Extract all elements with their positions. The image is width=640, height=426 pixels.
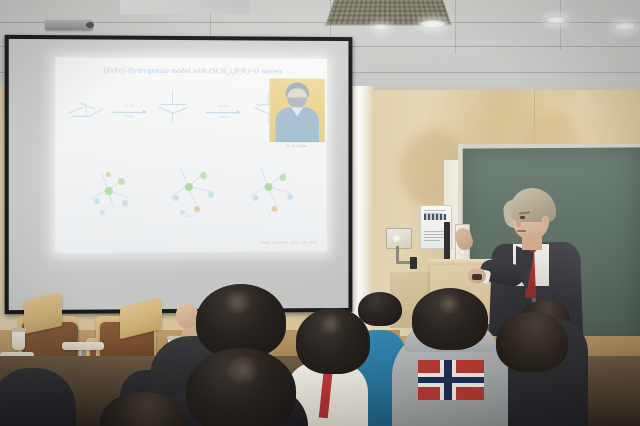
reaction-label-4: reflux bbox=[208, 115, 238, 119]
presenter-eye bbox=[520, 216, 525, 219]
reaction-label-2: + PR3 bbox=[114, 115, 144, 119]
crystal-structure-3: 3 bbox=[242, 162, 307, 222]
coffee-cup-lid bbox=[11, 328, 26, 332]
reaction-scheme-structure-2 bbox=[152, 90, 196, 126]
reaction-arrow-2 bbox=[206, 112, 240, 113]
slide-title: [FeFe]-Hydrogenase model with (SCH2)2P(R… bbox=[65, 66, 320, 78]
structure-label-3: 3 bbox=[258, 214, 282, 218]
ceiling-downlight bbox=[545, 16, 567, 24]
lecture-hall-photo: [FeFe]-Hydrogenase model with (SCH2)2P(R… bbox=[0, 0, 640, 426]
presenter-nose bbox=[516, 219, 521, 227]
poster-header-band bbox=[424, 214, 446, 220]
slide-title-text: [FeFe]-Hydrogenase model with (SCH bbox=[104, 67, 226, 76]
crystal-structure-2: 2a-c bbox=[160, 162, 226, 222]
presentation-remote[interactable] bbox=[472, 274, 482, 280]
projection-screen-frame: [FeFe]-Hydrogenase model with (SCH2)2P(R… bbox=[5, 35, 353, 314]
projector-lens bbox=[86, 22, 94, 28]
slide-portrait-photo bbox=[270, 78, 325, 142]
presenter-mouth bbox=[517, 230, 526, 232]
attendee-right-head bbox=[496, 312, 568, 372]
projection-screen-surface: [FeFe]-Hydrogenase model with (SCH2)2P(R… bbox=[9, 39, 349, 310]
coffee-cup[interactable] bbox=[12, 330, 25, 350]
projected-slide: [FeFe]-Hydrogenase model with (SCH2)2P(R… bbox=[55, 57, 326, 252]
ceiling-downlight bbox=[420, 20, 446, 29]
ceiling-downlight bbox=[613, 22, 637, 31]
presenter-ear bbox=[542, 216, 549, 226]
attendee-back-head bbox=[358, 292, 402, 326]
reaction-scheme-structure-1 bbox=[65, 98, 107, 124]
ceiling-downlight bbox=[372, 24, 390, 31]
hair-whorl bbox=[224, 356, 262, 384]
attendee-raised-hand bbox=[176, 304, 198, 328]
lamp-head bbox=[410, 257, 417, 269]
reaction-label-1: - 2 CO bbox=[114, 104, 144, 108]
ceiling-panel-reflection bbox=[120, 0, 250, 14]
slide-citation: Chem. Commun. 2013, 49, 4022 bbox=[260, 241, 317, 245]
slide-title-end: P(R)=O moiety bbox=[235, 67, 283, 75]
crystal-structure-1: 1 bbox=[78, 164, 140, 222]
slide-portrait-caption: Dr. Ulf H. Apfel bbox=[270, 144, 323, 148]
flag-blue-horizontal bbox=[418, 377, 484, 383]
hair-whorl bbox=[436, 294, 462, 314]
folding-tray[interactable] bbox=[62, 342, 104, 350]
reaction-arrow-1 bbox=[112, 112, 146, 113]
wall-lamp-bulb bbox=[392, 235, 401, 242]
hair-whorl bbox=[318, 314, 344, 334]
reaction-label-3: toluene bbox=[208, 104, 238, 108]
structure-label-1: 1 bbox=[98, 216, 122, 220]
presenter-hair bbox=[510, 188, 556, 222]
structure-label-2: 2a-c bbox=[178, 214, 202, 218]
hair-whorl bbox=[222, 290, 254, 314]
